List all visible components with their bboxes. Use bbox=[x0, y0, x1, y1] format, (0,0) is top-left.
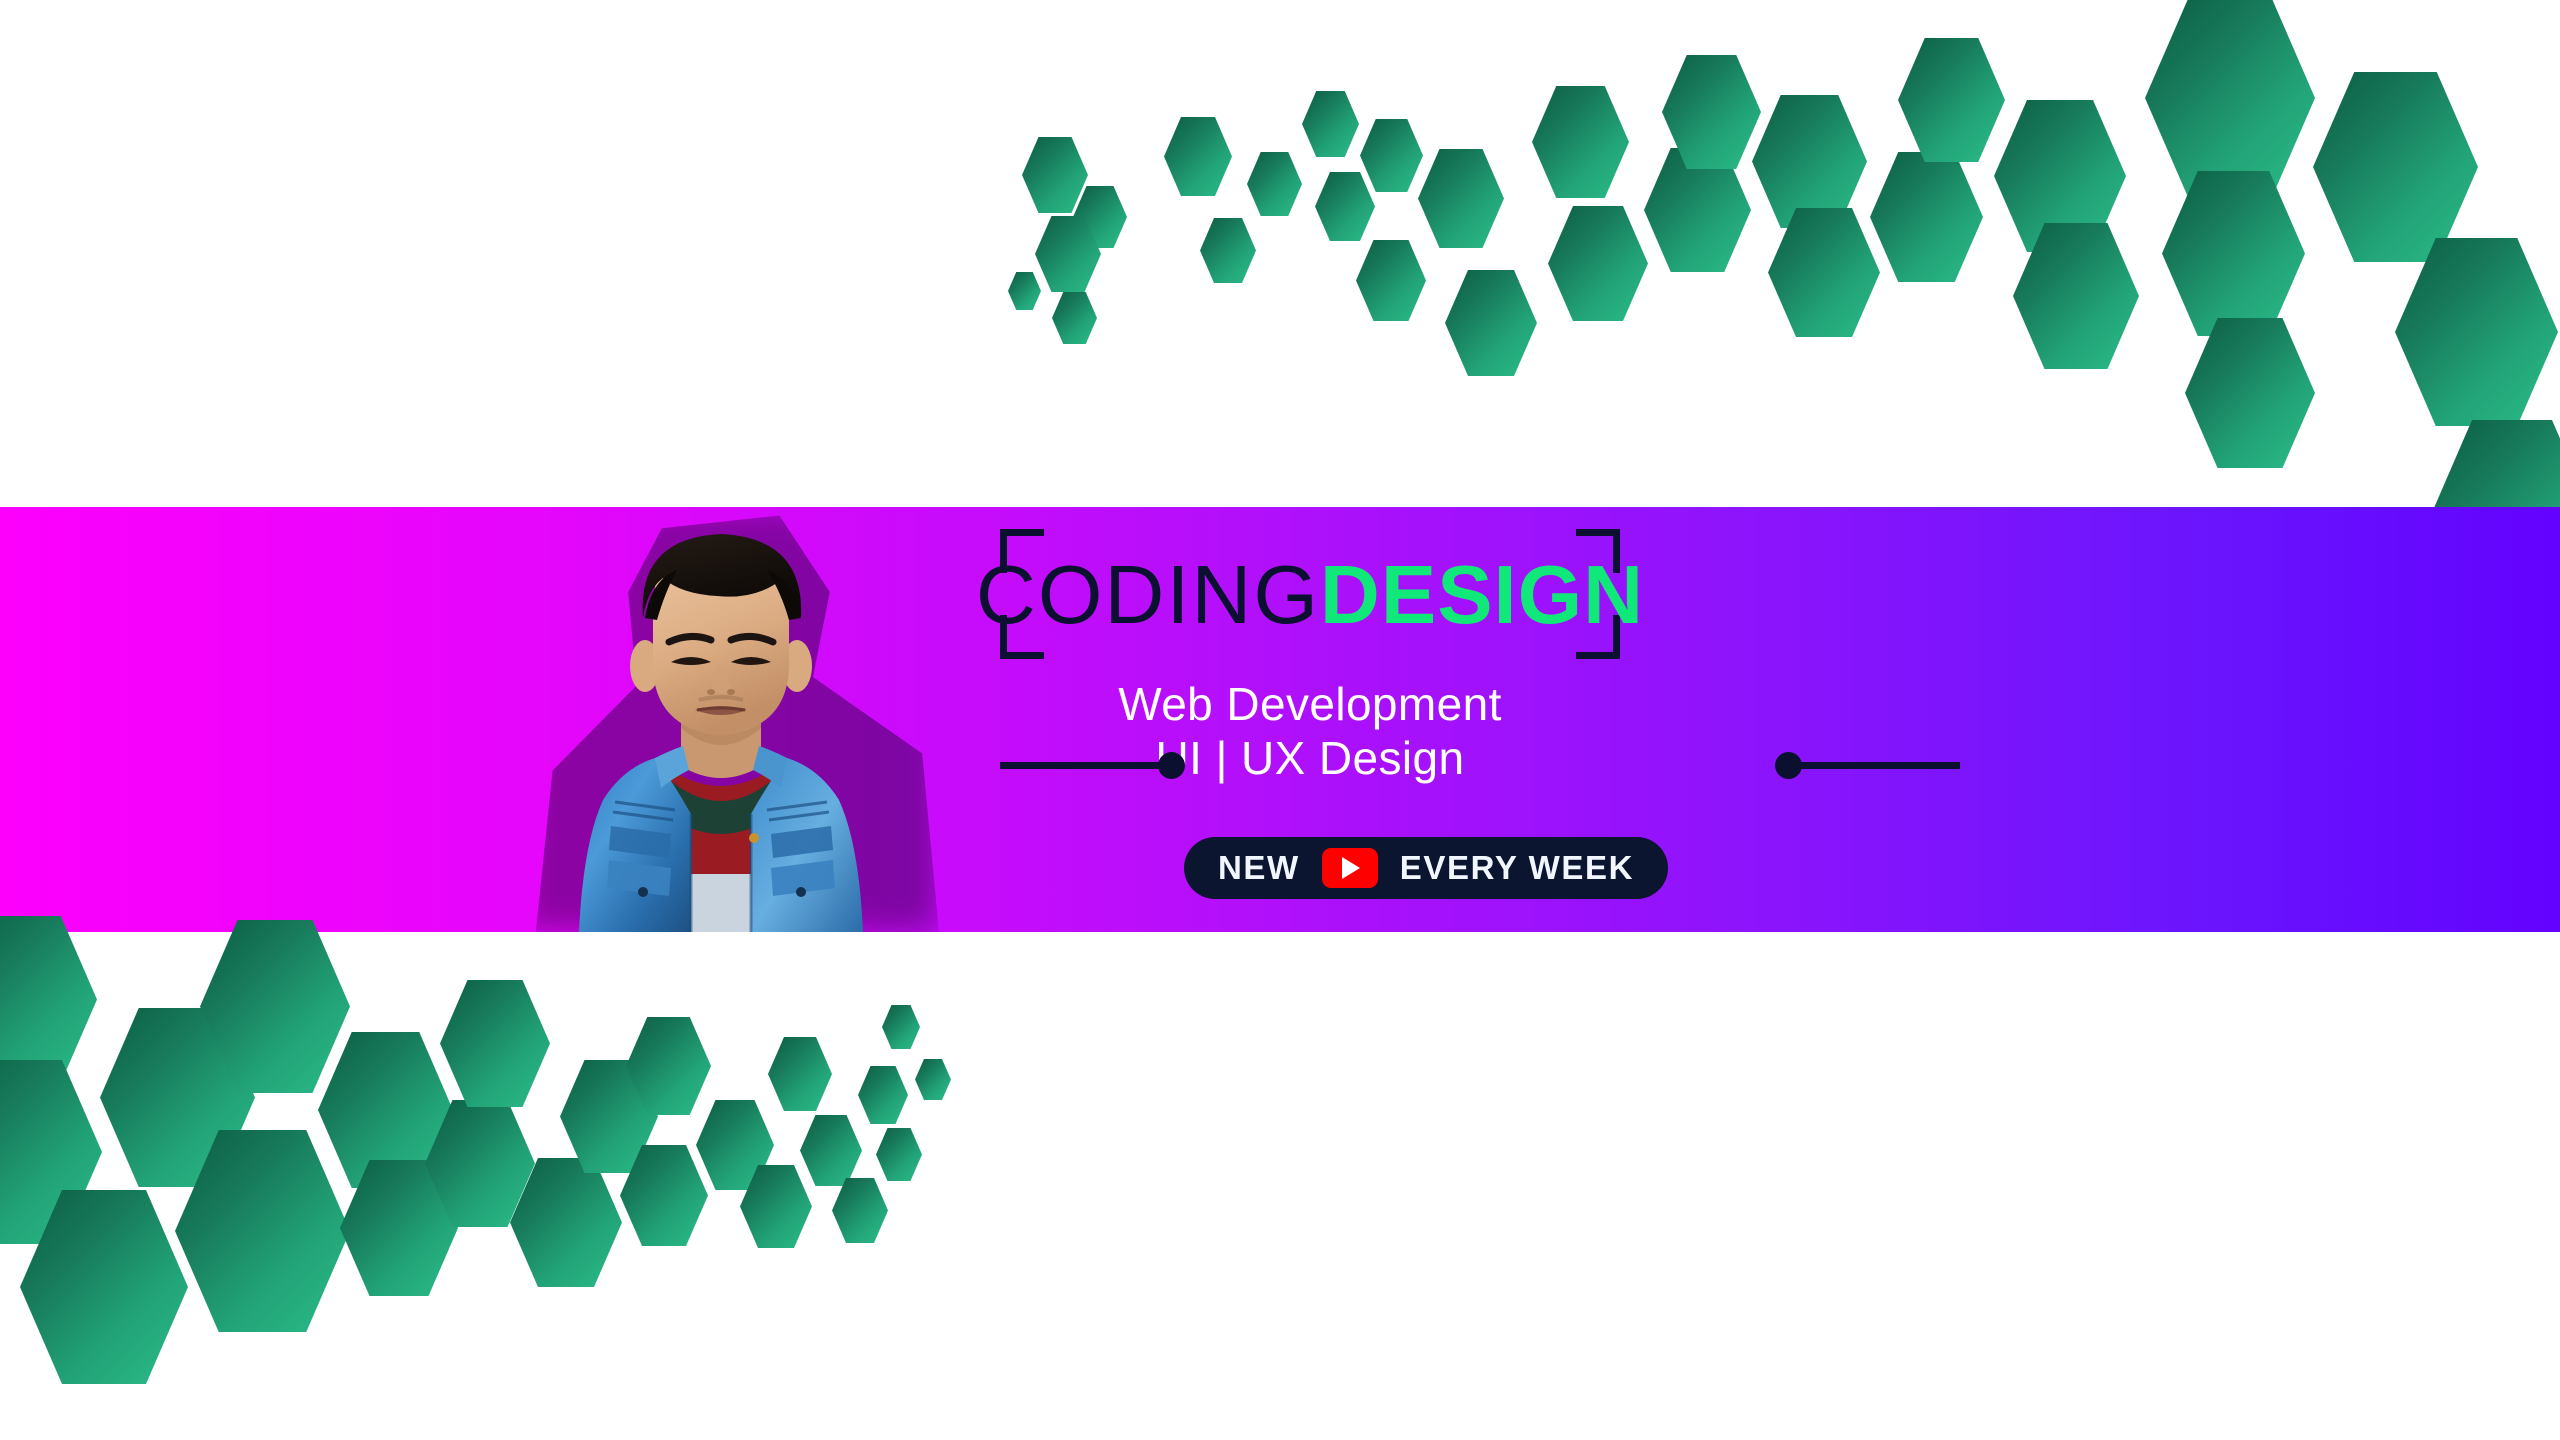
hexagon-top-25 bbox=[2162, 171, 2305, 336]
channel-host-photo bbox=[505, 507, 965, 932]
person-illustration bbox=[505, 514, 937, 932]
rule-dot-right bbox=[1775, 752, 1802, 779]
hexagon-top-15 bbox=[1548, 206, 1648, 321]
hexagon-top-10 bbox=[1360, 119, 1423, 192]
rule-bar-left bbox=[1000, 762, 1160, 769]
hexagon-top-8 bbox=[1302, 91, 1359, 157]
hexagon-top-24 bbox=[2145, 0, 2315, 196]
hexagon-top-5 bbox=[1164, 117, 1232, 196]
hexagon-top-28 bbox=[2395, 238, 2558, 426]
rule-bar-right bbox=[1800, 762, 1960, 769]
hexagon-bottom-8 bbox=[425, 1100, 535, 1227]
hexagon-bottom-18 bbox=[832, 1178, 888, 1243]
hexagon-bottom-0 bbox=[0, 916, 97, 1083]
title-word-coding: CODING bbox=[976, 553, 1320, 636]
hexagon-top-23 bbox=[2013, 223, 2139, 369]
hexagon-top-19 bbox=[1768, 208, 1880, 337]
hexagon-top-18 bbox=[1752, 95, 1867, 228]
hexagon-bottom-15 bbox=[740, 1165, 812, 1248]
hexagon-top-11 bbox=[1356, 240, 1426, 321]
hexagon-bottom-21 bbox=[882, 1005, 920, 1049]
hexagon-bottom-4 bbox=[175, 1130, 350, 1332]
hexagon-top-9 bbox=[1315, 172, 1375, 241]
hexagon-bottom-13 bbox=[626, 1017, 711, 1115]
hexagon-bottom-3 bbox=[100, 1008, 255, 1187]
hexagon-top-13 bbox=[1445, 270, 1537, 376]
hexagon-top-16 bbox=[1644, 148, 1751, 272]
hexagon-bottom-12 bbox=[620, 1145, 708, 1246]
badge-label-every-week: EVERY WEEK bbox=[1400, 849, 1634, 887]
hexagon-top-1 bbox=[1073, 186, 1127, 248]
hexagon-top-6 bbox=[1200, 218, 1256, 283]
youtube-play-icon[interactable] bbox=[1322, 848, 1378, 888]
hexagon-bottom-16 bbox=[768, 1037, 832, 1111]
hexagon-top-0 bbox=[1022, 137, 1088, 213]
rule-dot-left bbox=[1158, 752, 1185, 779]
hexagon-top-20 bbox=[1870, 152, 1983, 282]
upload-schedule-badge[interactable]: NEW EVERY WEEK bbox=[1184, 837, 1668, 899]
title-word-design: DESIGN bbox=[1320, 553, 1644, 636]
hexagon-top-21 bbox=[1898, 38, 2005, 162]
decorative-rule-left bbox=[1000, 752, 1185, 778]
channel-banner: CODINGDESIGN Web Development UI | UX Des… bbox=[0, 507, 2560, 932]
hexagon-bottom-7 bbox=[340, 1160, 458, 1296]
subtitle-line-1: Web Development bbox=[1000, 677, 1620, 731]
hexagon-top-26 bbox=[2185, 318, 2315, 468]
hexagon-top-27 bbox=[2313, 72, 2478, 262]
hexagon-bottom-1 bbox=[0, 1060, 102, 1244]
hexagon-bottom-19 bbox=[858, 1066, 908, 1124]
hexagon-top-4 bbox=[1052, 292, 1097, 344]
hexagon-top-22 bbox=[1994, 100, 2126, 252]
hexagon-top-12 bbox=[1418, 149, 1504, 248]
hexagon-bottom-6 bbox=[318, 1032, 453, 1188]
hexagon-bottom-14 bbox=[696, 1100, 774, 1190]
hexagon-bottom-9 bbox=[440, 980, 550, 1107]
hexagon-top-17 bbox=[1662, 55, 1761, 169]
hexagon-top-14 bbox=[1532, 86, 1629, 198]
channel-title: CODINGDESIGN bbox=[1000, 529, 1620, 659]
hexagon-bottom-2 bbox=[20, 1190, 188, 1384]
hexagon-bottom-11 bbox=[560, 1060, 658, 1173]
hexagon-bottom-17 bbox=[800, 1115, 862, 1186]
hexagon-bottom-20 bbox=[876, 1128, 922, 1181]
hexagon-top-2 bbox=[1035, 216, 1101, 292]
hexagon-bottom-10 bbox=[510, 1158, 622, 1287]
title-block: CODINGDESIGN bbox=[1000, 529, 1620, 659]
badge-label-new: NEW bbox=[1218, 849, 1300, 887]
hexagon-bottom-22 bbox=[915, 1059, 951, 1100]
play-triangle-icon bbox=[1342, 857, 1360, 879]
decorative-rule-right bbox=[1775, 752, 1960, 778]
banner-canvas: CODINGDESIGN Web Development UI | UX Des… bbox=[0, 0, 2560, 1440]
hexagon-top-7 bbox=[1247, 152, 1302, 216]
hexagon-top-3 bbox=[1008, 272, 1041, 310]
hexagon-bottom-5 bbox=[200, 920, 350, 1093]
